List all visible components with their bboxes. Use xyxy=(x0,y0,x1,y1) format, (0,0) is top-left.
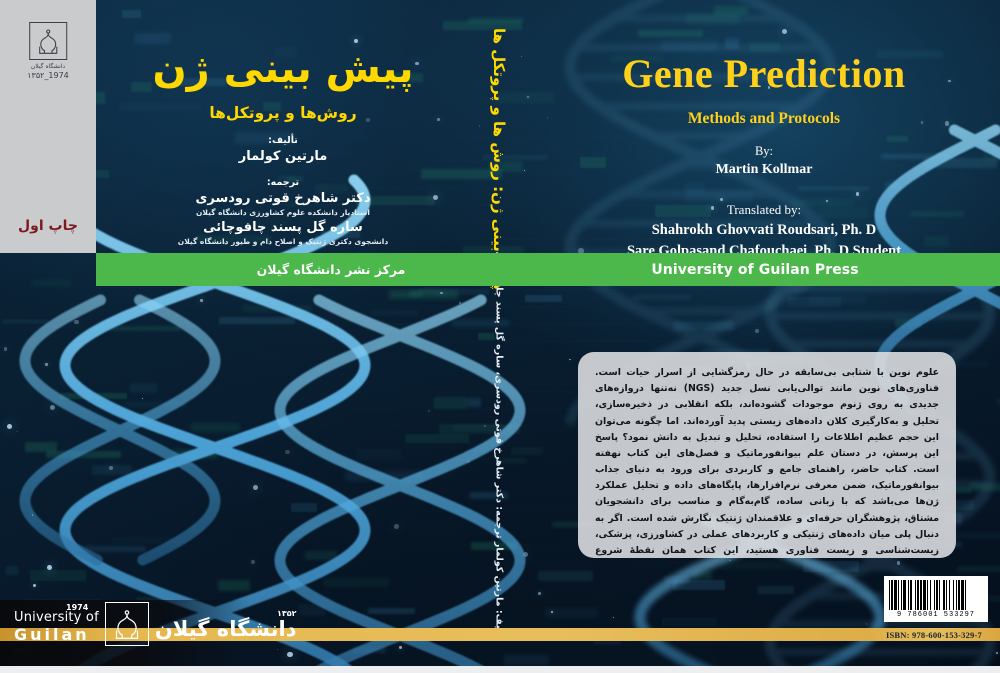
spine-authors: تألیف: مارتین کولمار ترجمه: دکتر شاهرخ ق… xyxy=(494,251,505,639)
university-name-line2: Guilan xyxy=(14,626,99,644)
guilan-seal-icon xyxy=(105,602,149,646)
university-logo-lockup: 1974 University of Guilan ۱۳۵۲ دانشگاه گ… xyxy=(14,596,297,652)
persian-title: پیش بینی ژن xyxy=(96,46,470,92)
persian-subtitle: روش‌ها و پروتکل‌ها xyxy=(96,104,470,122)
barcode-bars xyxy=(889,580,983,610)
english-translator-1: Shahrokh Ghovvati Roudsari, Ph. D xyxy=(528,222,1000,239)
publisher-name-fa: مرکز نشر دانشگاه گیلان xyxy=(96,262,566,277)
publisher-band: مرکز نشر دانشگاه گیلان University of Gui… xyxy=(96,253,1000,286)
persian-translator-label: ترجمه: xyxy=(96,177,470,188)
back-cover-abstract: علوم نوین با شتابی بی‌سابقه در حال رمزگش… xyxy=(578,352,956,558)
book-spine: پیش بینی ژن: روش ها و پروتکل ها تألیف: م… xyxy=(470,0,528,673)
barcode-digits: 9 786001 533297 xyxy=(889,611,983,619)
university-name-fa-wrap: ۱۳۵۲ دانشگاه گیلان xyxy=(155,609,297,640)
university-name-fa: دانشگاه گیلان xyxy=(155,619,297,640)
english-subtitle: Methods and Protocols xyxy=(528,110,1000,128)
left-flap: دانشگاه گیلان ۱۳۵۲_1974 چاپ اول xyxy=(0,0,96,253)
seal-glyph xyxy=(106,603,148,645)
guilan-seal-icon xyxy=(29,22,67,60)
persian-translator-1: دکتر شاهرخ قوتی رودسری xyxy=(96,191,470,206)
university-name-line1: University of xyxy=(14,611,99,626)
flap-logo-fa: دانشگاه گیلان xyxy=(27,63,69,70)
edition-label: چاپ اول xyxy=(0,218,96,234)
flap-logo-year: ۱۳۵۲_1974 xyxy=(27,71,69,80)
english-translated-label: Translated by: xyxy=(528,202,1000,218)
persian-translator-2-affiliation: دانشجوی دکتری ژنتیک و اصلاح دام و طیور د… xyxy=(96,237,470,246)
barcode: 9 786001 533297 xyxy=(884,576,988,622)
book-cover: دانشگاه گیلان ۱۳۵۲_1974 چاپ اول پیش بینی… xyxy=(0,0,1000,673)
page-bottom-edge xyxy=(0,666,1000,673)
university-name-en: 1974 University of Guilan xyxy=(14,604,99,643)
persian-author-label: تألیف: xyxy=(96,135,470,146)
persian-translator-2: ساره گل پسند چافوچائی xyxy=(96,220,470,235)
english-title-block: Gene Prediction Methods and Protocols By… xyxy=(528,52,1000,260)
seal-glyph xyxy=(30,23,66,59)
persian-translator-1-affiliation: استادیار دانشکده علوم کشاورزی دانشگاه گی… xyxy=(96,208,470,217)
flap-university-logo: دانشگاه گیلان ۱۳۵۲_1974 xyxy=(27,22,69,80)
english-by-label: By: xyxy=(528,144,1000,159)
publisher-name-en: University of Guilan Press xyxy=(510,262,1000,278)
persian-title-block: پیش بینی ژن روش‌ها و پروتکل‌ها تألیف: ما… xyxy=(96,46,470,246)
isbn-label: ISBN: 978-600-153-329-7 xyxy=(868,628,1000,641)
english-title: Gene Prediction xyxy=(528,52,1000,96)
english-author-name: Martin Kollmar xyxy=(528,162,1000,178)
persian-author-name: مارتین کولمار xyxy=(96,149,470,164)
